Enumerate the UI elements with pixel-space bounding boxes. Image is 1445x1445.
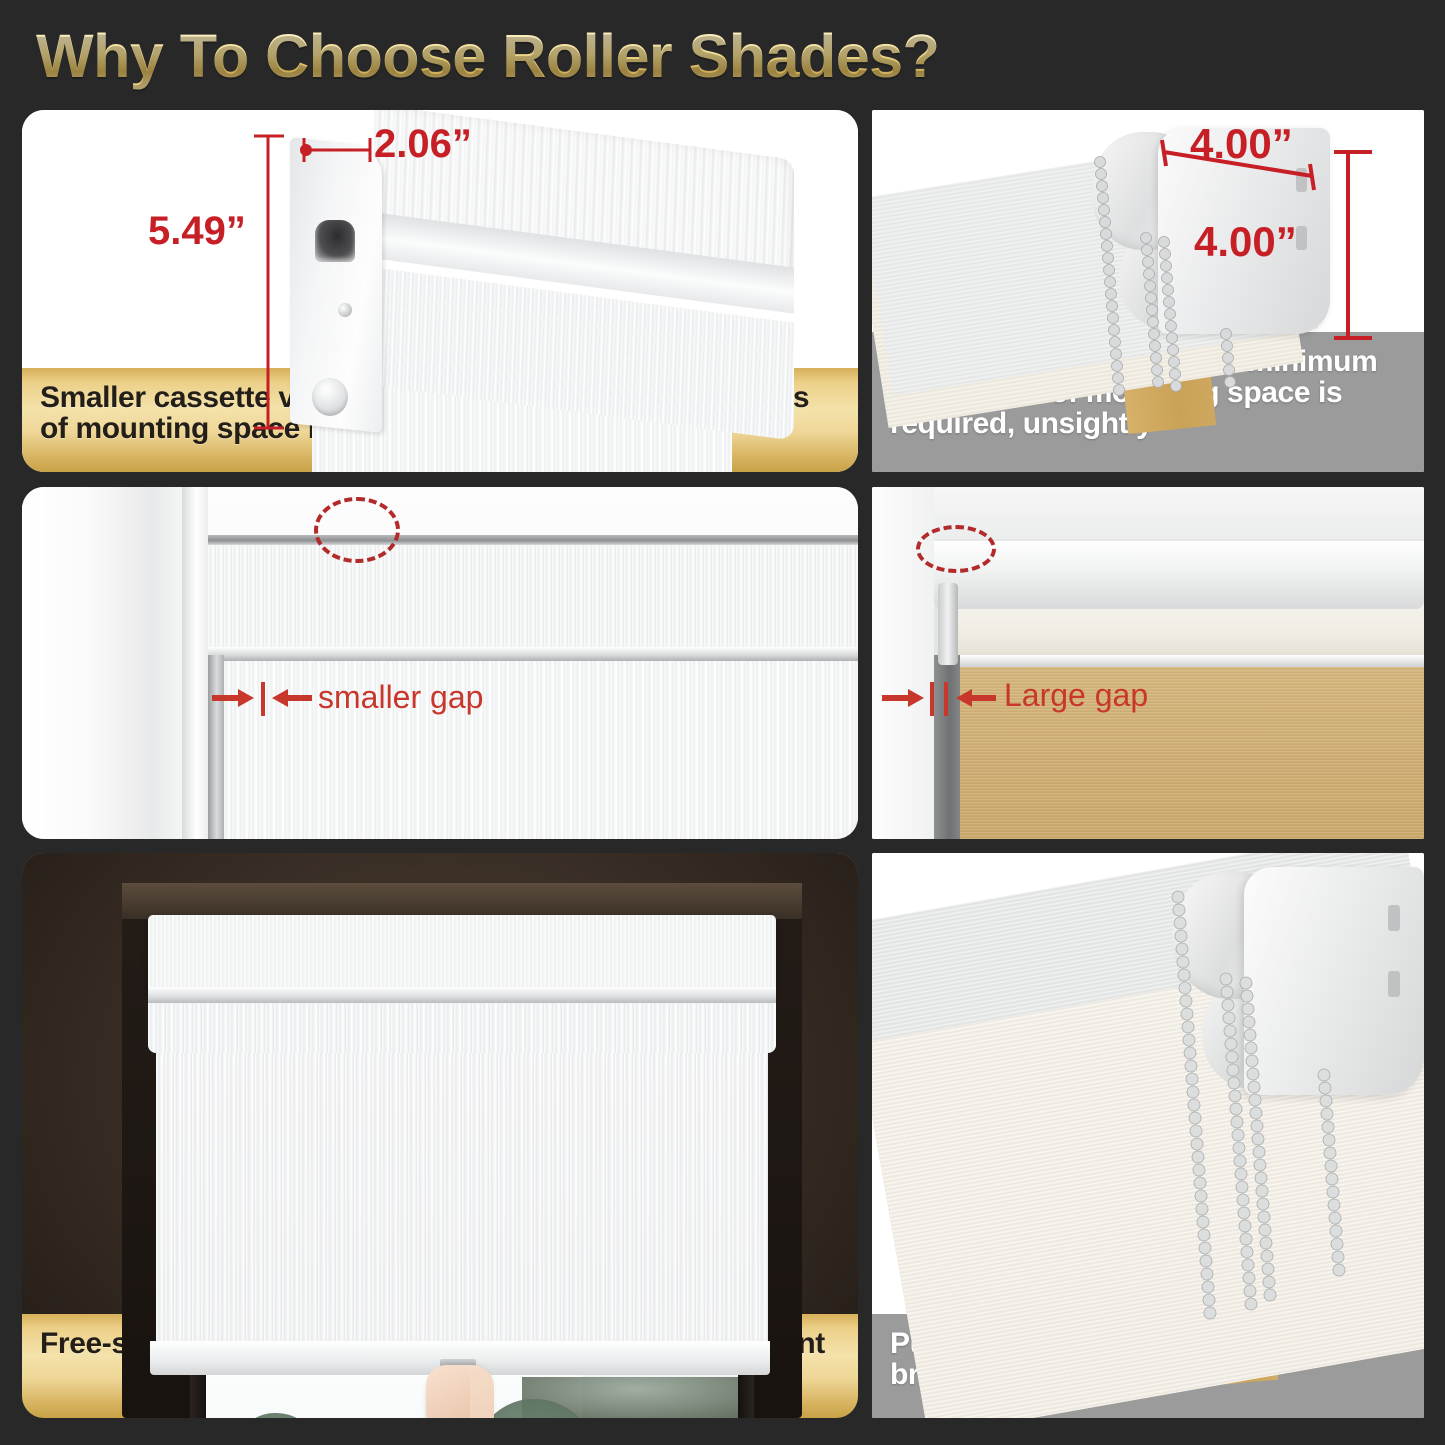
- panel-dustproof-cassette: smaller gap Same color dustproof cassett…: [22, 487, 858, 839]
- panel-cordless-design: Free-stop cordless design is safer and m…: [22, 853, 858, 1418]
- height-dimension-label: 5.49”: [148, 209, 246, 254]
- comparison-grid: 2.06” 5.49” Smaller cassette valance dim…: [0, 108, 1445, 1438]
- gap-callout-label: Large gap: [1004, 677, 1148, 714]
- panel-pulling-beads: Pulling beads are easy to tangle and bre…: [872, 853, 1424, 1418]
- gap-arrows: [22, 487, 858, 839]
- large-beam-photo: 4.00” 4.00”: [872, 110, 1424, 472]
- cassette-valance-photo: 2.06” 5.49”: [22, 110, 858, 472]
- width-dimension-label: 2.06”: [374, 122, 472, 167]
- page-title: Why To Choose Roller Shades?: [36, 18, 1036, 94]
- gap-callout-label: smaller gap: [318, 679, 483, 716]
- cordless-window-photo: [22, 853, 858, 1418]
- beaded-chain-icon: [872, 853, 1424, 1418]
- height-dimension-label: 4.00”: [1194, 218, 1297, 266]
- panel-cassette-valance: 2.06” 5.49” Smaller cassette valance dim…: [22, 110, 858, 472]
- panel-light-leakage: Large gap Light Leakage and the fabric i…: [872, 487, 1424, 839]
- dimension-lines: [872, 110, 1424, 472]
- panel-large-upper-beam: 4.00” 4.00” Large upper beam size, a min…: [872, 110, 1424, 472]
- dustproof-cassette-photo: smaller gap: [22, 487, 858, 839]
- pulling-beads-photo: [872, 853, 1424, 1418]
- gap-arrows: [872, 487, 1424, 839]
- width-dimension-label: 4.00”: [1190, 120, 1293, 168]
- light-leakage-photo: Large gap: [872, 487, 1424, 839]
